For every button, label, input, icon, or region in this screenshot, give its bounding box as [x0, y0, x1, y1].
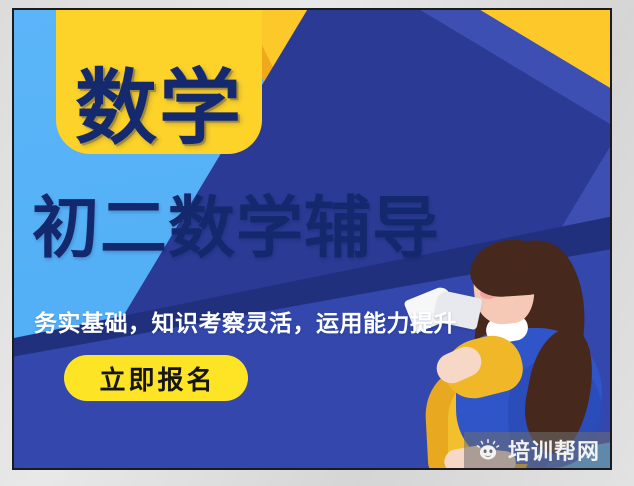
sun-face-icon: [476, 438, 500, 462]
subject-badge: 数学: [56, 8, 262, 154]
subject-badge-label: 数学: [75, 70, 243, 148]
banner-subtitle: 务实基础，知识考察灵活，运用能力提升: [34, 304, 457, 338]
enroll-now-button-label: 立即报名: [96, 360, 215, 397]
page-title: 初二数学辅导: [32, 193, 440, 263]
watermark: 培训帮网: [464, 432, 610, 468]
promo-banner: 数学 初二数学辅导 务实基础，知识考察灵活，运用能力提升 立即报名 培训帮网: [12, 8, 612, 470]
watermark-label: 培训帮网: [508, 434, 600, 466]
enroll-now-button[interactable]: 立即报名: [64, 355, 248, 401]
